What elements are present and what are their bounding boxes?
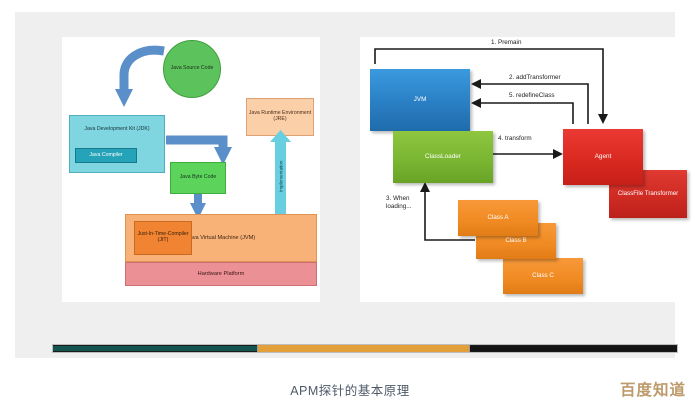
right-diagram-connectors (15, 12, 675, 358)
progress-played[interactable] (53, 346, 257, 351)
step-label-3-when-loading: 3. When loading... (386, 195, 420, 211)
content-frame: Java Source Code Java Development Kit (J… (15, 12, 675, 358)
step-label-2-addtransformer: 2. addTransformer (509, 74, 561, 81)
step-label-5-redefineclass: 5. redefineClass (509, 92, 555, 99)
progress-remaining[interactable] (470, 346, 677, 351)
node-label: Class B (505, 237, 526, 244)
node-label: ClassFile Transformer (618, 190, 679, 197)
page-caption: APM探针的基本原理 (0, 380, 700, 399)
media-progress-bar[interactable] (53, 345, 677, 352)
node-label: Agent (595, 153, 612, 161)
step-label-1-premain: 1. Premain (491, 39, 521, 46)
node-jvm-right: JVM (370, 69, 470, 131)
site-watermark: 百度知道 (620, 378, 686, 400)
progress-buffered[interactable] (257, 345, 470, 352)
node-class-a: Class A (458, 200, 538, 236)
node-label: JVM (414, 96, 427, 104)
step-label-4-transform: 4. transform (498, 135, 532, 142)
node-classloader: ClassLoader (393, 131, 493, 183)
node-class-c: Class C (503, 258, 583, 294)
node-label: Class C (532, 272, 554, 279)
node-label: ClassLoader (425, 153, 461, 161)
node-label: Class A (488, 214, 509, 221)
node-agent: Agent (563, 129, 643, 185)
